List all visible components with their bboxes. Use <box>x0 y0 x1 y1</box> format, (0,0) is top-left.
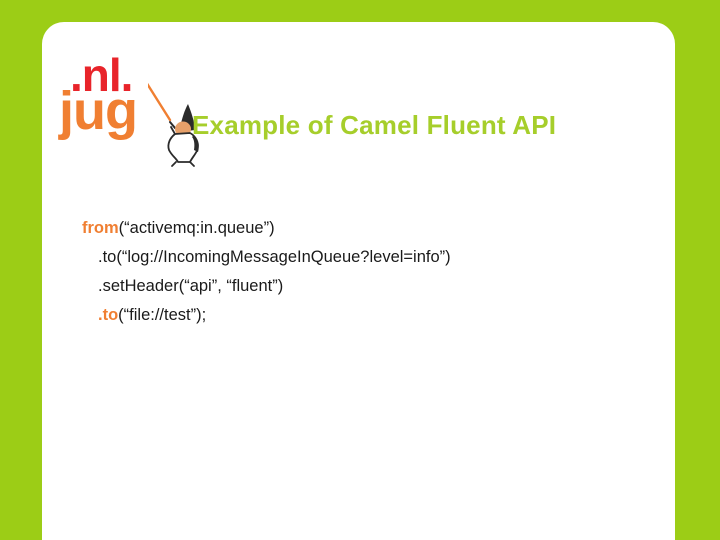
page-title: Example of Camel Fluent API <box>192 110 556 141</box>
code-text: (“file://test”); <box>118 306 206 324</box>
code-line: .to(“file://test”); <box>82 301 451 330</box>
code-block: from(“activemq:in.queue”).to(“log://Inco… <box>82 214 451 330</box>
code-text: (“activemq:in.queue”) <box>119 219 275 237</box>
code-text: .setHeader(“api”, “fluent”) <box>98 277 283 295</box>
slide-canvas: .nl. jug Example of <box>0 0 720 540</box>
code-line: .to(“log://IncomingMessageInQueue?level=… <box>82 243 451 272</box>
code-keyword: from <box>82 219 119 237</box>
code-line: .setHeader(“api”, “fluent”) <box>82 272 451 301</box>
code-line: from(“activemq:in.queue”) <box>82 214 451 243</box>
slide-content-panel: .nl. jug Example of <box>42 22 675 540</box>
code-text: .to(“log://IncomingMessageInQueue?level=… <box>98 248 451 266</box>
nljug-logo: .nl. jug <box>56 52 206 182</box>
logo-jug-text: jug <box>59 84 137 138</box>
code-keyword: .to <box>98 306 118 324</box>
